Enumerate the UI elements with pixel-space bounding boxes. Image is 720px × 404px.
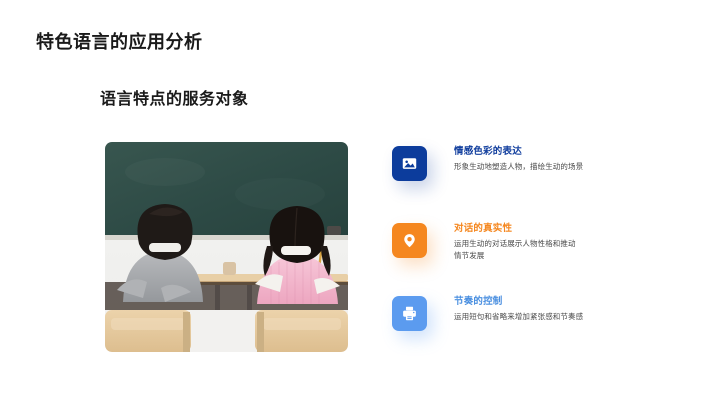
location-pin-icon xyxy=(401,232,418,249)
slide-canvas: 特色语言的应用分析 语言特点的服务对象 xyxy=(0,0,720,404)
feature-desc-1: 形象生动地塑造人物，描绘生动的场景 xyxy=(454,161,654,173)
feature-item-dialogue-authenticity[interactable]: 对话的真实性 运用生动的对话展示人物性格和推动情节发展 xyxy=(392,221,682,261)
feature-text-2: 对话的真实性 运用生动的对话展示人物性格和推动情节发展 xyxy=(454,221,654,261)
classroom-photo xyxy=(105,142,348,352)
feature-desc-2: 运用生动的对话展示人物性格和推动情节发展 xyxy=(454,238,582,261)
printer-icon xyxy=(401,305,418,322)
feature-text-1: 情感色彩的表达 形象生动地塑造人物，描绘生动的场景 xyxy=(454,144,654,173)
feature-title-2: 对话的真实性 xyxy=(454,222,654,235)
classroom-photo-image xyxy=(105,142,348,352)
feature-title-1: 情感色彩的表达 xyxy=(454,145,654,158)
feature-title-3: 节奏的控制 xyxy=(454,295,654,308)
feature-item-emotional-expression[interactable]: 情感色彩的表达 形象生动地塑造人物，描绘生动的场景 xyxy=(392,144,682,181)
page-subtitle: 语言特点的服务对象 xyxy=(100,85,249,109)
feature-desc-3: 运用短句和省略来增加紧张感和节奏感 xyxy=(454,311,654,323)
image-icon xyxy=(401,155,418,172)
feature-list: 情感色彩的表达 形象生动地塑造人物，描绘生动的场景 对话的真实性 运用生动的对话… xyxy=(392,144,682,331)
feature-item-rhythm-control[interactable]: 节奏的控制 运用短句和省略来增加紧张感和节奏感 xyxy=(392,294,682,331)
feature-text-3: 节奏的控制 运用短句和省略来增加紧张感和节奏感 xyxy=(454,294,654,323)
feature-icon-tile-1 xyxy=(392,146,427,181)
feature-icon-tile-2 xyxy=(392,223,427,258)
page-title: 特色语言的应用分析 xyxy=(36,28,203,54)
feature-icon-tile-3 xyxy=(392,296,427,331)
